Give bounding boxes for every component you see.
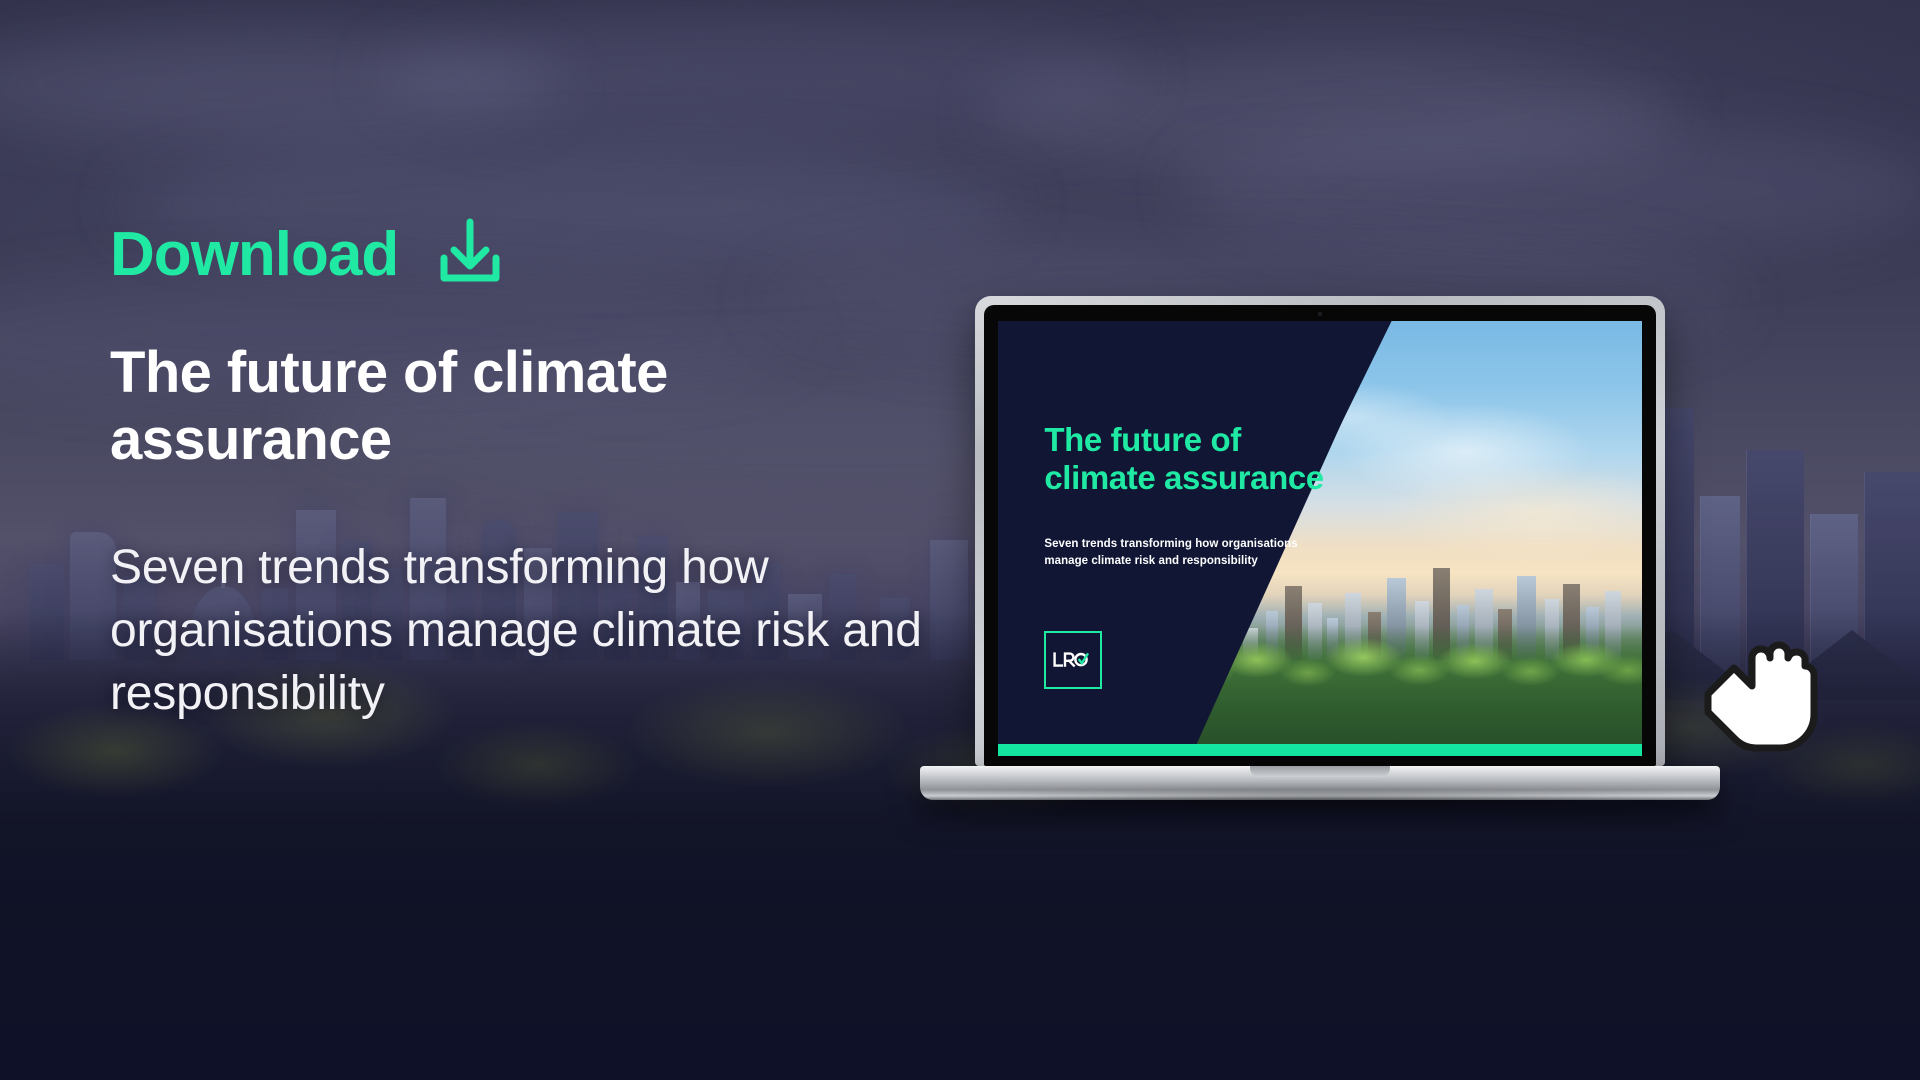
download-label[interactable]: Download — [110, 224, 398, 286]
slide-subtitle: Seven trends transforming how organisati… — [1044, 536, 1297, 569]
webcam-icon — [1318, 312, 1322, 316]
page-subtitle: Seven trends transforming how organisati… — [110, 536, 970, 726]
download-cta[interactable]: Download — [110, 218, 990, 291]
slide-photo-trees — [1178, 626, 1642, 757]
laptop-base — [920, 766, 1720, 800]
download-arrow-icon[interactable] — [434, 218, 506, 291]
pointing-hand-cursor-icon[interactable] — [1700, 636, 1818, 769]
page-title: The future of climate assurance — [110, 339, 790, 474]
promo-banner: Download The future of climate assurance… — [0, 0, 1920, 1080]
lrqa-logo-icon — [1044, 631, 1102, 689]
laptop-bezel: The future of climate assurance Seven tr… — [984, 305, 1656, 766]
copy-block: Download The future of climate assurance… — [110, 218, 990, 726]
laptop-lid: The future of climate assurance Seven tr… — [975, 296, 1665, 766]
laptop-base-shadow — [890, 794, 1750, 820]
laptop-mockup[interactable]: The future of climate assurance Seven tr… — [975, 296, 1665, 800]
ebook-cover-slide[interactable]: The future of climate assurance Seven tr… — [998, 321, 1642, 756]
slide-accent-bar — [998, 744, 1642, 756]
slide-title: The future of climate assurance — [1044, 421, 1323, 496]
